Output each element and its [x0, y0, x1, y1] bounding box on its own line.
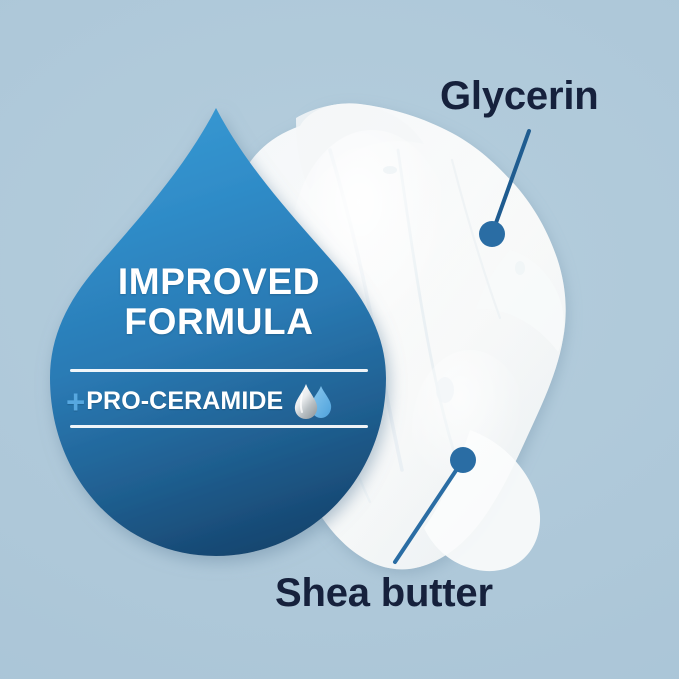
- badge-content: IMPROVED FORMULA + PRO-CERAMIDE: [52, 262, 386, 343]
- badge-title: IMPROVED FORMULA: [52, 262, 386, 343]
- product-ingredient-infographic: IMPROVED FORMULA + PRO-CERAMIDE: [0, 0, 679, 679]
- badge-divider-bottom: [70, 425, 368, 428]
- shea-butter-label: Shea butter: [275, 571, 493, 616]
- ceramide-droplet-icon: [290, 382, 334, 420]
- badge-divider-top: [70, 369, 368, 372]
- glycerin-label: Glycerin: [440, 74, 598, 119]
- pro-ceramide-row: + PRO-CERAMIDE: [66, 380, 372, 422]
- plus-icon: +: [66, 385, 85, 418]
- pro-ceramide-label: PRO-CERAMIDE: [86, 387, 283, 416]
- badge-title-line2: FORMULA: [52, 302, 386, 342]
- badge-title-line1: IMPROVED: [118, 261, 320, 302]
